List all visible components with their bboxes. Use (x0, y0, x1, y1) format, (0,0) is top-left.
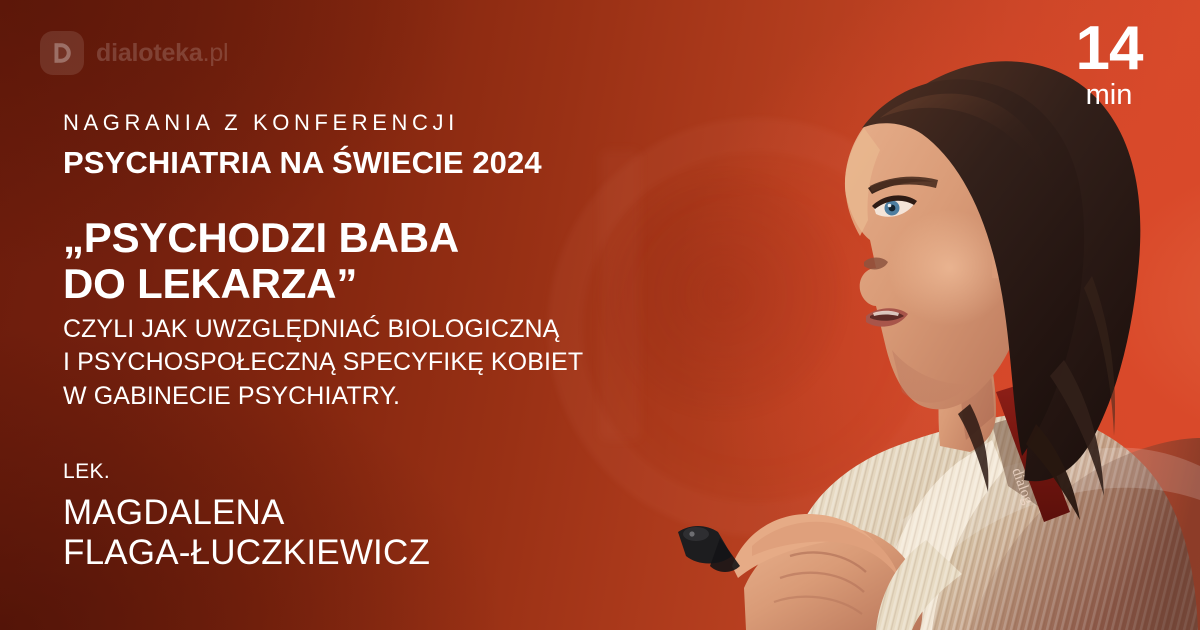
lecture-subtitle-line-3: W GABINECIE PSYCHIATRY. (63, 380, 703, 414)
eyebrow-label: NAGRANIA Z KONFERENCJI (63, 110, 703, 136)
dialoteka-d-logo-icon (40, 31, 84, 75)
speaker-name-line-2: FLAGA-ŁUCZKIEWICZ (63, 533, 703, 574)
duration-unit: min (1054, 80, 1164, 110)
content-block: NAGRANIA Z KONFERENCJI PSYCHIATRIA NA ŚW… (63, 110, 703, 574)
lecture-title: „PSYCHODZI BABA DO LEKARZA” (63, 215, 703, 306)
speaker-name-line-1: MAGDALENA (63, 493, 703, 534)
conference-title: PSYCHIATRIA NA ŚWIECIE 2024 (63, 144, 703, 182)
brand-logo[interactable]: dialoteka.pl (40, 30, 228, 76)
conference-recording-banner: dialog dialog (0, 0, 1200, 630)
lecture-subtitle-line-2: I PSYCHOSPOŁECZNĄ SPECYFIKĘ KOBIET (63, 346, 703, 380)
duration-value: 14 (1054, 20, 1164, 78)
brand-name: dialoteka.pl (96, 41, 228, 66)
duration-badge: 14 min (1054, 20, 1164, 111)
speaker-name: MAGDALENA FLAGA-ŁUCZKIEWICZ (63, 493, 703, 574)
lecture-subtitle-line-1: CZYLI JAK UWZGLĘDNIAĆ BIOLOGICZNĄ (63, 313, 703, 347)
lecture-subtitle: CZYLI JAK UWZGLĘDNIAĆ BIOLOGICZNĄ I PSYC… (63, 313, 703, 414)
lecture-title-line-2: DO LEKARZA” (63, 261, 703, 306)
speaker-title-prefix: LEK. (63, 459, 703, 484)
lecture-title-line-1: „PSYCHODZI BABA (63, 215, 703, 260)
speaker-block: LEK. MAGDALENA FLAGA-ŁUCZKIEWICZ (63, 459, 703, 573)
brand-tld: .pl (203, 39, 229, 67)
